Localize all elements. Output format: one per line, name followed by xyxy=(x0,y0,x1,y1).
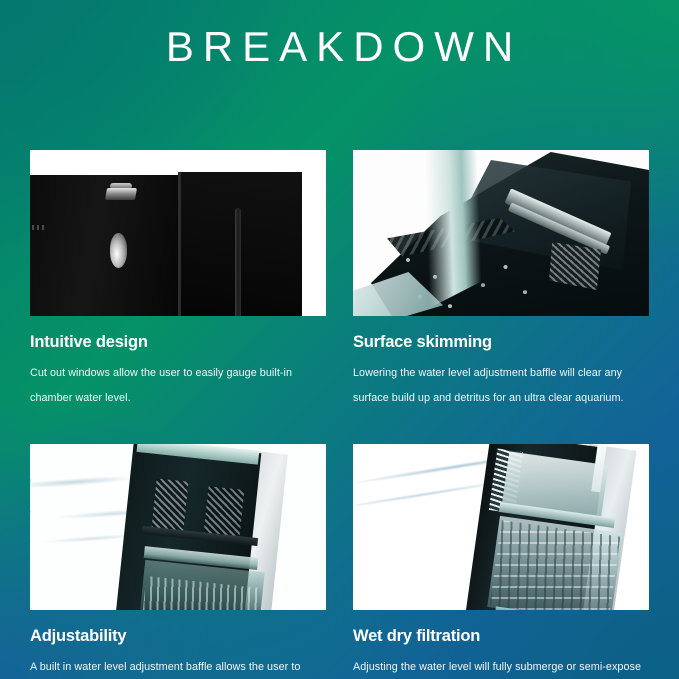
feature-grid: Intuitive design Cut out windows allow t… xyxy=(30,150,649,679)
filter-media-left xyxy=(151,478,188,531)
card-title: Wet dry filtration xyxy=(353,626,649,646)
card-title: Intuitive design xyxy=(30,332,326,352)
cutout-window-icon xyxy=(110,233,127,268)
card-title: Adjustability xyxy=(30,626,326,646)
photo-black-sump-box xyxy=(30,150,326,316)
feature-card-intuitive-design: Intuitive design Cut out windows allow t… xyxy=(30,150,326,411)
infographic-root: BREAKDOWN Intuitive design Cut out windo… xyxy=(0,0,679,679)
card-body: Cut out windows allow the user to easily… xyxy=(30,361,326,411)
card-title: Surface skimming xyxy=(353,332,649,352)
page-title: BREAKDOWN xyxy=(0,20,679,74)
sump-right-panel xyxy=(180,172,302,316)
card-body: Adjusting the water level will fully sub… xyxy=(353,655,649,679)
sump-seam xyxy=(178,172,181,316)
sump-left-panel xyxy=(30,175,178,316)
filter-media-right xyxy=(204,486,245,538)
sump-vertical-rod xyxy=(235,208,241,316)
card-body: A built in water level adjustment baffle… xyxy=(30,655,326,679)
feature-card-surface-skimming: Surface skimming Lowering the water leve… xyxy=(353,150,649,411)
photo-adjustability-chamber xyxy=(30,444,326,610)
sump-side-markings xyxy=(32,225,44,230)
feature-card-wet-dry-filtration: Wet dry filtration Adjusting the water l… xyxy=(353,444,649,679)
sump-handle xyxy=(105,188,137,200)
filter-media-texture xyxy=(490,520,621,610)
card-body: Lowering the water level adjustment baff… xyxy=(353,361,649,411)
photo-wet-dry-filtration xyxy=(353,444,649,610)
photo-overflow-box-angled xyxy=(353,150,649,316)
feature-card-adjustability: Adjustability A built in water level adj… xyxy=(30,444,326,679)
